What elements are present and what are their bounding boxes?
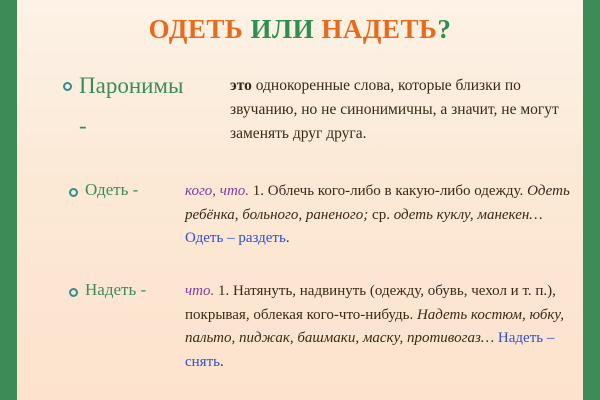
bullet-icon-odet xyxy=(69,188,78,197)
examples-odet-2: одеть куклу, манекен… xyxy=(394,207,543,223)
bullet-icon-paronimy xyxy=(63,82,72,91)
bullet-icon-nadet xyxy=(69,288,78,297)
title-word-ili: ИЛИ xyxy=(243,14,321,44)
grammar-note-odet: кого, что. xyxy=(185,183,249,199)
definition-odet-tail: ср. xyxy=(368,207,393,223)
definition-paronimy: это однокоренные слова, которые близки п… xyxy=(230,74,570,146)
definition-odet: кого, что. 1. Облечь кого-либо в какую-л… xyxy=(185,180,575,251)
definition-nadet-period: . xyxy=(220,354,224,370)
antonym-link-odet: Одеть – раздеть xyxy=(185,230,286,246)
definition-odet-text: 1. Облечь кого-либо в какую-либо одежду. xyxy=(249,183,527,199)
definition-nadet: что. 1. Натянуть, надвинуть (одежду, обу… xyxy=(185,280,575,375)
slide: ОДЕТЬ ИЛИ НАДЕТЬ? Паронимы - это однокор… xyxy=(0,0,600,400)
term-nadet: Надеть - xyxy=(85,280,146,300)
title-word-nadet: НАДЕТЬ xyxy=(321,14,437,44)
definition-paronimy-rest: однокоренные слова, которые близки по зв… xyxy=(230,77,559,142)
title-word-odet: ОДЕТЬ xyxy=(149,14,244,44)
definition-paronimy-lead: это xyxy=(230,77,252,94)
grammar-note-nadet: что. xyxy=(185,283,214,299)
term-paronimy-dash: - xyxy=(79,113,87,139)
title-question-mark: ? xyxy=(437,14,451,44)
page-title: ОДЕТЬ ИЛИ НАДЕТЬ? xyxy=(17,14,583,45)
slide-content: ОДЕТЬ ИЛИ НАДЕТЬ? Паронимы - это однокор… xyxy=(17,0,583,400)
definition-odet-period: . xyxy=(286,230,290,246)
term-paronimy: Паронимы xyxy=(79,73,183,99)
term-odet: Одеть - xyxy=(85,180,138,200)
